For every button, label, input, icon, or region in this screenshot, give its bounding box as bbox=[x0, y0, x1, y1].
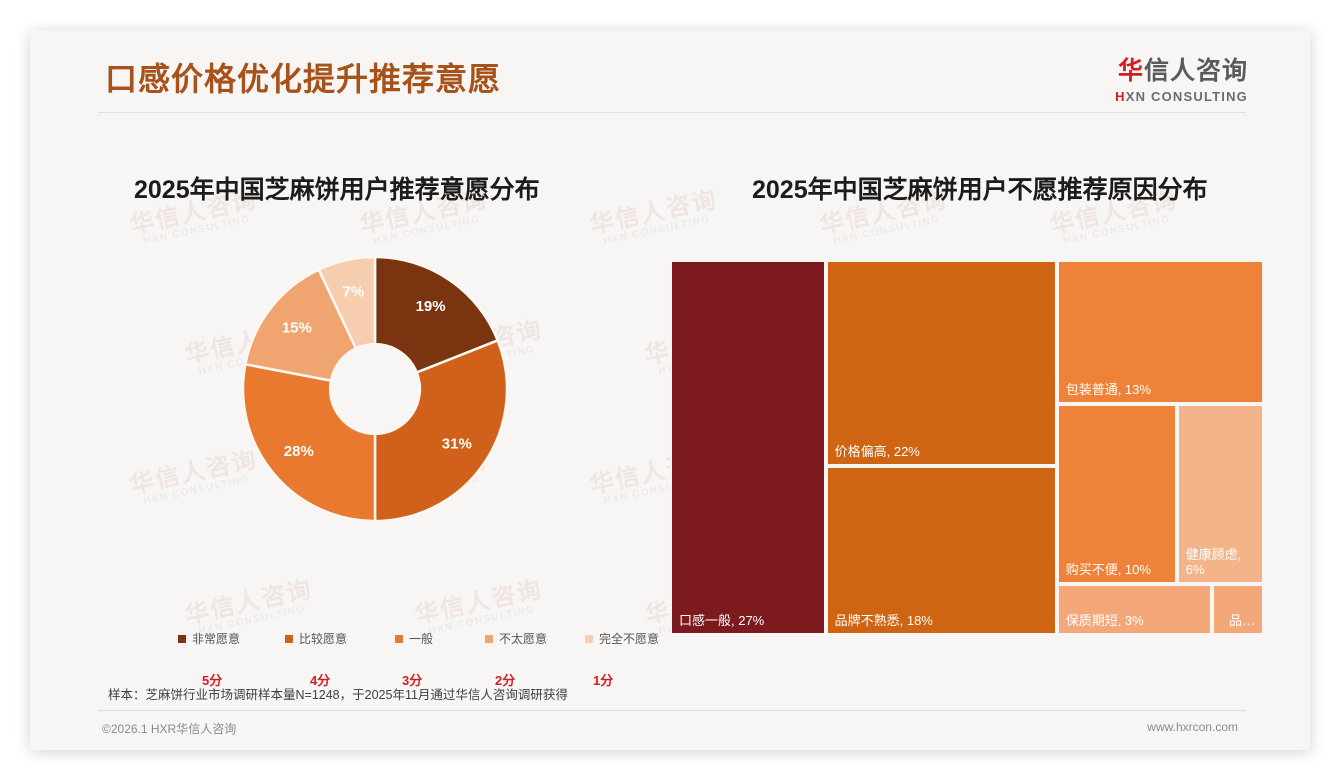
treemap-cell-label: 品牌不熟悉, 18% bbox=[835, 613, 1051, 628]
donut-chart-svg: 19%31%28%15%7% bbox=[240, 254, 510, 524]
watermark: 华信人咨询HXN CONSULTING bbox=[588, 187, 723, 249]
legend-item-3[interactable]: 一般 bbox=[395, 630, 433, 647]
donut-slice[interactable] bbox=[375, 340, 507, 521]
donut-legend: 非常愿意比较愿意一般不太愿意完全不愿意 bbox=[150, 630, 670, 648]
donut-slice-label: 7% bbox=[343, 283, 365, 300]
donut-slice-label: 31% bbox=[442, 436, 472, 453]
watermark-english: HXN CONSULTING bbox=[1063, 212, 1183, 248]
donut-chart: 19%31%28%15%7% bbox=[240, 254, 510, 524]
legend-score-5: 1分 bbox=[593, 670, 613, 689]
treemap-cell-label: 品… bbox=[1229, 613, 1255, 628]
treemap-cell-label: 包装普通, 13% bbox=[1066, 382, 1258, 397]
treemap-cell[interactable]: 购买不便, 10% bbox=[1057, 404, 1177, 584]
treemap-cell-label: 保质期短, 3% bbox=[1066, 613, 1207, 628]
treemap-cell-label: 健康顾虑, 6% bbox=[1186, 547, 1258, 578]
watermark-chinese: 华信人咨询 bbox=[413, 577, 545, 629]
legend-swatch-icon bbox=[485, 635, 493, 643]
page-title: 口感价格优化提升推荐意愿 bbox=[105, 54, 501, 100]
legend-item-label: 不太愿意 bbox=[499, 630, 547, 647]
treemap-cell[interactable]: 健康顾虑, 6% bbox=[1177, 404, 1264, 584]
watermark-english: HXN CONSULTING bbox=[833, 212, 953, 248]
legend-item-label: 比较愿意 bbox=[299, 630, 347, 647]
logo-english-highlight: H bbox=[1115, 89, 1126, 104]
watermark-english: HXN CONSULTING bbox=[143, 212, 263, 248]
donut-slice-label: 28% bbox=[284, 443, 314, 460]
treemap-chart: 口感一般, 27%价格偏高, 22%品牌不熟悉, 18%包装普通, 13%购买不… bbox=[670, 260, 1264, 635]
donut-slice-label: 19% bbox=[416, 298, 446, 315]
watermark-english: HXN CONSULTING bbox=[603, 212, 723, 248]
donut-chart-title: 2025年中国芝麻饼用户推荐意愿分布 bbox=[134, 170, 540, 206]
treemap-cell[interactable]: 包装普通, 13% bbox=[1057, 260, 1264, 404]
company-logo: 华信人咨询 HXN CONSULTING bbox=[1115, 58, 1248, 104]
slide-canvas: 华信人咨询HXN CONSULTING华信人咨询HXN CONSULTING华信… bbox=[30, 30, 1310, 750]
logo-chinese-rest: 信人咨询 bbox=[1144, 57, 1248, 85]
treemap-cell[interactable]: 口感一般, 27% bbox=[670, 260, 826, 635]
donut-slice-label: 15% bbox=[282, 319, 312, 336]
legend-item-2[interactable]: 比较愿意 bbox=[285, 630, 347, 647]
legend-swatch-icon bbox=[585, 635, 593, 643]
logo-chinese-highlight: 华 bbox=[1118, 57, 1144, 85]
logo-english-rest: XN CONSULTING bbox=[1126, 89, 1248, 104]
treemap-cell[interactable]: 价格偏高, 22% bbox=[826, 260, 1057, 466]
treemap-cell[interactable]: 品… bbox=[1212, 584, 1264, 635]
sample-note: 样本：芝麻饼行业市场调研样本量N=1248，于2025年11月通过华信人咨询调研… bbox=[108, 684, 568, 703]
legend-item-label: 一般 bbox=[409, 630, 433, 647]
watermark-english: HXN CONSULTING bbox=[373, 212, 493, 248]
logo-english: HXN CONSULTING bbox=[1115, 89, 1248, 104]
logo-chinese: 华信人咨询 bbox=[1115, 58, 1248, 86]
treemap-cell[interactable]: 保质期短, 3% bbox=[1057, 584, 1213, 635]
legend-item-label: 非常愿意 bbox=[192, 630, 240, 647]
legend-swatch-icon bbox=[395, 635, 403, 643]
footer-website: www.hxrcon.com bbox=[1147, 720, 1238, 734]
legend-item-1[interactable]: 非常愿意 bbox=[178, 630, 240, 647]
treemap-chart-title: 2025年中国芝麻饼用户不愿推荐原因分布 bbox=[752, 170, 1208, 206]
legend-item-5[interactable]: 完全不愿意 bbox=[585, 630, 659, 647]
legend-swatch-icon bbox=[285, 635, 293, 643]
footer-divider bbox=[98, 710, 1246, 711]
watermark-chinese: 华信人咨询 bbox=[588, 187, 720, 239]
legend-item-4[interactable]: 不太愿意 bbox=[485, 630, 547, 647]
treemap-cell-label: 口感一般, 27% bbox=[679, 613, 820, 628]
treemap-cell-label: 价格偏高, 22% bbox=[835, 444, 1051, 459]
header-divider bbox=[98, 112, 1246, 113]
footer-copyright: ©2026.1 HXR华信人咨询 bbox=[102, 720, 236, 737]
treemap-cell-label: 购买不便, 10% bbox=[1066, 562, 1171, 577]
watermark-chinese: 华信人咨询 bbox=[183, 577, 315, 629]
legend-swatch-icon bbox=[178, 635, 186, 643]
legend-item-label: 完全不愿意 bbox=[599, 630, 659, 647]
treemap-cell[interactable]: 品牌不熟悉, 18% bbox=[826, 466, 1057, 635]
